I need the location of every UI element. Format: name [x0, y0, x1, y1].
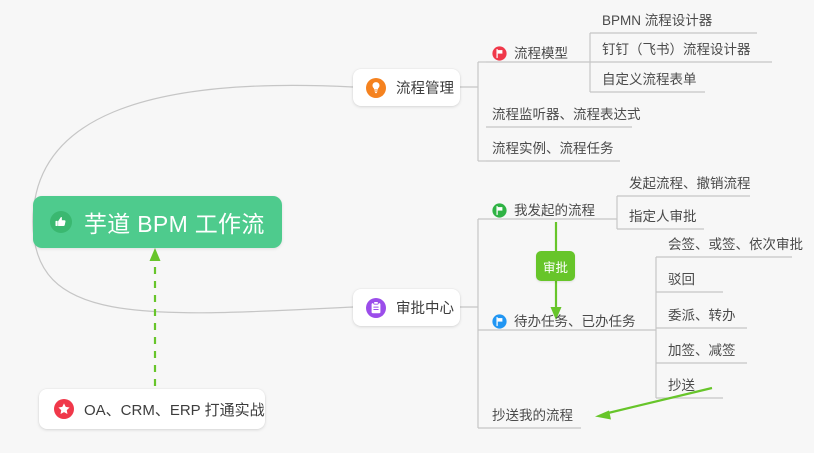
node-integration-practice[interactable]: OA、CRM、ERP 打通实战	[39, 389, 265, 429]
branch-process-management[interactable]: 流程管理	[353, 69, 460, 106]
node-assignee-approval[interactable]: 指定人审批	[623, 210, 708, 229]
node-reject-label: 驳回	[662, 271, 701, 292]
location-pin-bulb-icon	[365, 77, 387, 99]
node-process-model-label: 流程模型	[514, 45, 568, 62]
node-bpmn-designer[interactable]: BPMN 流程设计器	[596, 14, 761, 33]
node-dingtalk-feishu-designer[interactable]: 钉钉（飞书）流程设计器	[596, 43, 776, 62]
clipboard-icon	[365, 297, 387, 319]
root-label: 芋道 BPM 工作流	[84, 205, 265, 239]
node-integration-label: OA、CRM、ERP 打通实战	[84, 399, 265, 420]
node-cc-label: 抄送	[662, 377, 701, 398]
root-node[interactable]: 芋道 BPM 工作流	[33, 196, 282, 248]
flag-icon	[492, 46, 507, 61]
node-my-initiated-label: 我发起的流程	[514, 202, 595, 219]
node-assignee-approval-label: 指定人审批	[623, 208, 703, 229]
node-countersign-orsign-sequential[interactable]: 会签、或签、依次审批	[662, 238, 797, 257]
thumbs-up-icon	[49, 210, 73, 234]
node-cc-to-me-process[interactable]: 抄送我的流程	[486, 409, 586, 428]
node-countersign-label: 会签、或签、依次审批	[662, 236, 809, 257]
approve-tag[interactable]: 审批	[536, 251, 575, 281]
star-badge-icon	[53, 398, 75, 420]
node-cc-to-me-label: 抄送我的流程	[486, 407, 579, 428]
node-my-initiated-process[interactable]: 我发起的流程	[492, 202, 595, 219]
node-cc[interactable]: 抄送	[662, 379, 727, 398]
node-todo-done-tasks[interactable]: 待办任务、已办任务	[492, 313, 636, 330]
node-start-cancel-process[interactable]: 发起流程、撤销流程	[623, 177, 753, 196]
flag-icon	[492, 314, 507, 329]
node-process-listener-expression[interactable]: 流程监听器、流程表达式	[486, 108, 636, 127]
node-todo-done-label: 待办任务、已办任务	[514, 313, 636, 330]
branch-approval-center[interactable]: 审批中心	[353, 289, 460, 326]
branch-approval-label: 审批中心	[396, 297, 454, 318]
node-process-listener-label: 流程监听器、流程表达式	[486, 106, 647, 127]
node-add-remove-sign[interactable]: 加签、减签	[662, 344, 752, 363]
node-custom-process-form[interactable]: 自定义流程表单	[596, 73, 711, 92]
approve-tag-label: 审批	[543, 257, 568, 276]
node-bpmn-designer-label: BPMN 流程设计器	[596, 12, 718, 33]
node-process-instance-label: 流程实例、流程任务	[486, 140, 620, 161]
node-dingtalk-feishu-designer-label: 钉钉（飞书）流程设计器	[596, 41, 757, 62]
arrow-integration-to-root	[150, 248, 161, 386]
branch-process-label: 流程管理	[396, 77, 454, 98]
flag-icon	[492, 203, 507, 218]
node-custom-process-form-label: 自定义流程表单	[596, 71, 703, 92]
node-add-remove-sign-label: 加签、减签	[662, 342, 742, 363]
node-delegate-transfer-label: 委派、转办	[662, 307, 742, 328]
node-delegate-transfer[interactable]: 委派、转办	[662, 309, 752, 328]
node-reject[interactable]: 驳回	[662, 273, 727, 292]
node-start-cancel-label: 发起流程、撤销流程	[623, 175, 757, 196]
node-process-instance-task[interactable]: 流程实例、流程任务	[486, 142, 626, 161]
node-process-model[interactable]: 流程模型	[492, 45, 568, 62]
mindmap-canvas: 芋道 BPM 工作流 流程管理 审批中心	[0, 0, 814, 453]
